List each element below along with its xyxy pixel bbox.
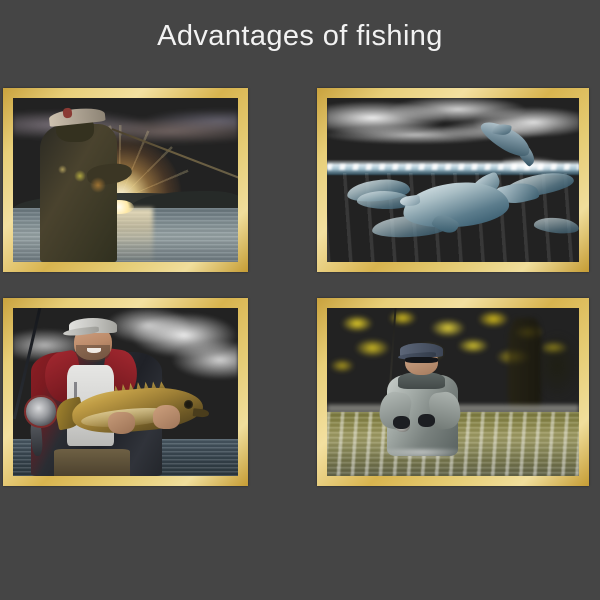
sunglasses	[405, 357, 438, 364]
angler-hand-right	[153, 405, 180, 429]
photo-frame-dolphins[interactable]	[317, 88, 589, 272]
photo-sunset-angler	[13, 98, 238, 262]
photo-angler-catch	[13, 308, 238, 476]
fishing-reel	[24, 395, 57, 428]
glove-right	[418, 414, 436, 427]
angler-trousers	[54, 449, 131, 476]
lens-flare-2	[90, 177, 106, 193]
angler-body-silhouette	[40, 124, 117, 262]
photo-frame-fly-fisher-autumn[interactable]	[317, 298, 589, 486]
fish-eye	[184, 400, 193, 408]
poster-root: Advantages of fishing	[0, 0, 600, 600]
angler-hand-left	[108, 412, 135, 434]
waterline-splash	[377, 449, 468, 459]
tree-trunk	[508, 318, 541, 409]
page-title: Advantages of fishing	[0, 20, 600, 53]
photo-frame-angler-catch[interactable]	[3, 298, 248, 486]
cap-stripe	[62, 108, 72, 119]
dark-shrubbery	[541, 332, 579, 399]
photo-fly-fisher-autumn	[327, 308, 579, 476]
photo-frame-sunset-angler[interactable]	[3, 88, 248, 272]
photo-dolphins	[327, 98, 579, 262]
glove-left	[393, 416, 411, 429]
lens-flare-1	[74, 170, 86, 182]
